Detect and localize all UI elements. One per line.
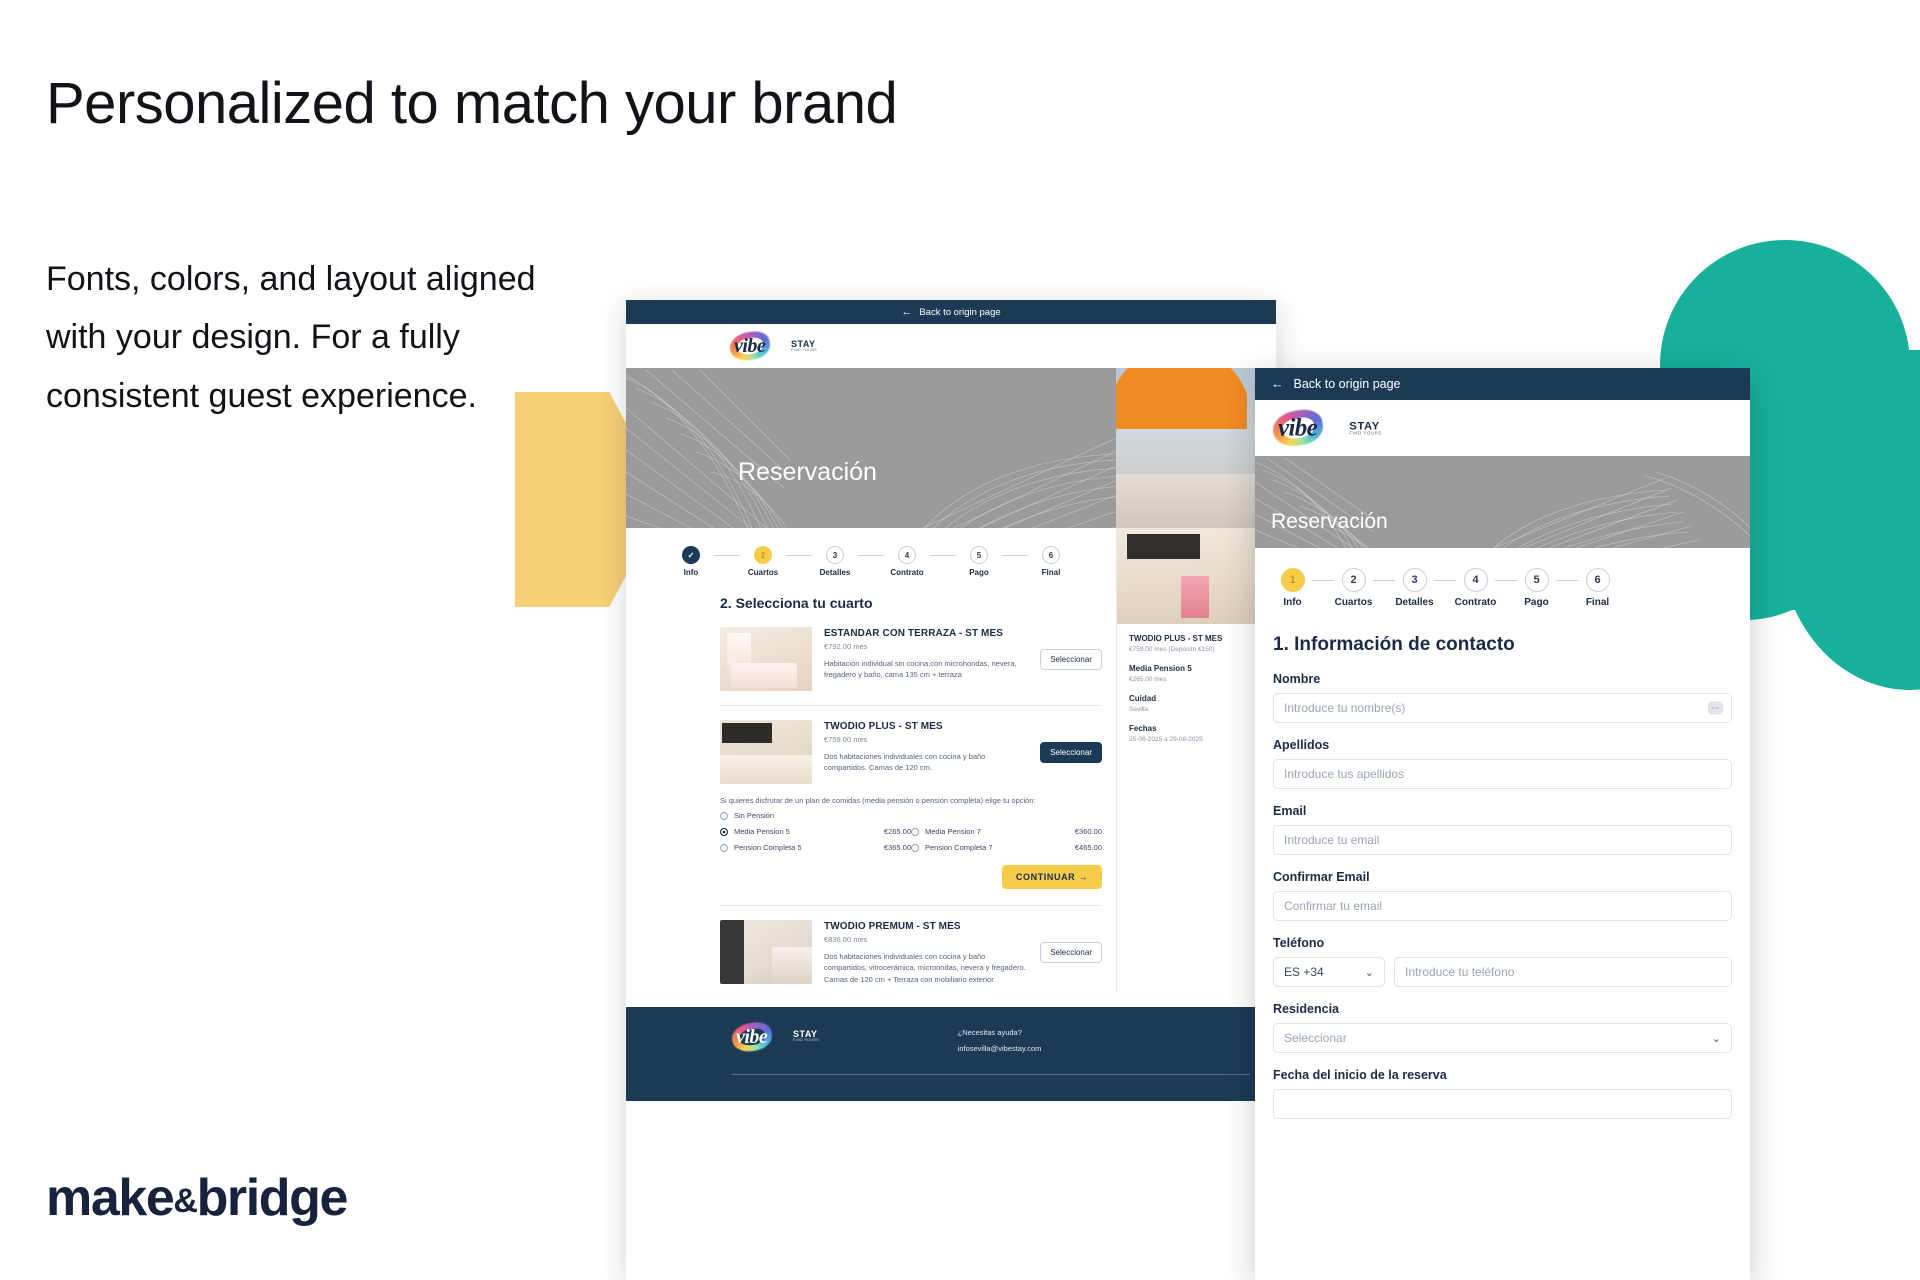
step-cuartos-label: Cuartos	[748, 568, 778, 577]
desktop-hero-photo	[1116, 368, 1276, 528]
room-price: €792.00 mes	[824, 642, 1028, 651]
meal-label: Pension Completa 5	[734, 843, 802, 852]
tablet-step-cuartos[interactable]: 2 Cuartos	[1334, 568, 1373, 608]
step-pago[interactable]: 5 Pago	[956, 546, 1002, 577]
room-price: €759.00 mes	[824, 735, 1028, 744]
desktop-logo-band: vibe STAY FIND YOURS	[626, 324, 1276, 368]
tablet-back-bar[interactable]: ← Back to origin page	[1255, 368, 1750, 400]
step-connector	[1495, 580, 1517, 581]
tablet-hero: Reservación	[1255, 456, 1750, 548]
footer-help-title: ¿Necesitas ayuda?	[958, 1025, 1042, 1041]
summary-meal-price: €265.00 mes	[1129, 676, 1266, 683]
page-title: Personalized to match your brand	[46, 72, 897, 137]
step-cuartos[interactable]: 2 Cuartos	[740, 546, 786, 577]
confirm-email-field[interactable]: Confirmar tu email	[1273, 891, 1732, 921]
desktop-main-column: ✓ Info 2 Cuartos 3 Detalles 4 Contrato	[626, 528, 1116, 993]
room-description: Habitación individual sin cocina,con mic…	[824, 658, 1028, 681]
summary-meal-name: Media Pension 5	[1129, 664, 1266, 673]
radio-icon[interactable]	[720, 812, 728, 820]
step-connector	[1312, 580, 1334, 581]
step-contrato[interactable]: 4 Contrato	[884, 546, 930, 577]
desktop-body: ✓ Info 2 Cuartos 3 Detalles 4 Contrato	[626, 528, 1276, 993]
tablet-step-detalles-label: Detalles	[1395, 597, 1433, 608]
desktop-booking-window: ← Back to origin page vibe STAY FIND YOU…	[626, 300, 1276, 1280]
vibe-stay-lockup: STAY FIND YOURS	[1349, 420, 1382, 436]
booking-summary: TWODIO PLUS - ST MES €759.00 mes (Depósi…	[1117, 624, 1276, 753]
room-info: ESTANDAR CON TERRAZA - ST MES €792.00 me…	[824, 627, 1028, 681]
meal-option-media-pension-7[interactable]: Media Pension 7 €360.00	[911, 827, 1102, 836]
tablet-step-info-dot: 1	[1281, 568, 1305, 592]
meal-option-sin-pension[interactable]: Sin Pensión	[720, 811, 916, 820]
step-detalles-label: Detalles	[820, 568, 851, 577]
summary-room-price: €759.00 mes (Depósito €150)	[1129, 646, 1266, 653]
tablet-step-pago[interactable]: 5 Pago	[1517, 568, 1556, 608]
apellidos-placeholder: Introduce tus apellidos	[1284, 767, 1404, 781]
step-cuartos-dot: 2	[754, 546, 772, 564]
room-name: TWODIO PLUS - ST MES	[824, 721, 1028, 732]
meal-label: Media Pension 5	[734, 827, 790, 836]
telefono-placeholder: Introduce tu teléfono	[1405, 965, 1514, 979]
vibe-stay-logo[interactable]: vibe STAY FIND YOURS	[1273, 411, 1382, 446]
vibe-stay-lockup: STAY FIND YOURS	[791, 340, 817, 353]
page-subcopy: Fonts, colors, and layout aligned with y…	[46, 250, 586, 425]
room-card[interactable]: ESTANDAR CON TERRAZA - ST MES €792.00 me…	[626, 619, 1116, 699]
brand-word-bridge: bridge	[197, 1169, 348, 1227]
summary-dates-value: 25-06-2025 a 29-08-2025	[1129, 736, 1266, 743]
section-title: 2. Selecciona tu cuarto	[720, 595, 1116, 611]
tablet-step-pago-dot: 5	[1525, 568, 1549, 592]
tablet-step-detalles-dot: 3	[1403, 568, 1427, 592]
confirm-email-label: Confirmar Email	[1273, 870, 1732, 884]
email-label: Email	[1273, 804, 1732, 818]
meal-option-pension-completa-7[interactable]: Pension Completa 7 €465.00	[911, 843, 1102, 852]
room-thumbnail	[720, 720, 812, 784]
meal-row: Sin Pensión	[720, 811, 1102, 820]
apellidos-field[interactable]: Introduce tus apellidos	[1273, 759, 1732, 789]
desktop-back-bar[interactable]: ← Back to origin page	[626, 300, 1276, 324]
room-thumbnail	[720, 920, 812, 984]
arrow-left-icon: ←	[901, 307, 912, 318]
summary-city-value: Sevilla	[1129, 706, 1266, 713]
meal-option-media-pension-5[interactable]: Media Pension 5 €265.00	[720, 827, 911, 836]
room-description: Dos habitaciones individuales con cocina…	[824, 951, 1028, 985]
meal-price: €465.00	[1075, 843, 1102, 852]
vibe-wordmark: vibe	[736, 1026, 767, 1049]
tablet-step-cuartos-label: Cuartos	[1335, 597, 1373, 608]
footer-help-email[interactable]: infosevilla@vibestay.com	[958, 1041, 1042, 1057]
hero-wave-pattern	[626, 368, 1116, 528]
nombre-field[interactable]: Introduce tu nombre(s) ⋯	[1273, 693, 1732, 723]
telefono-label: Teléfono	[1273, 936, 1732, 950]
desktop-footer: vibe STAY FIND YOURS ¿Necesitas ayuda? i…	[626, 1007, 1276, 1102]
tablet-step-final[interactable]: 6 Final	[1578, 568, 1617, 608]
arrow-left-icon: ←	[1271, 377, 1284, 391]
footer-vibe-logo[interactable]: vibe STAY FIND YOURS	[732, 1023, 819, 1051]
divider	[720, 705, 1102, 706]
step-connector	[1434, 580, 1456, 581]
room-name: ESTANDAR CON TERRAZA - ST MES	[824, 628, 1028, 639]
room-card[interactable]: TWODIO PLUS - ST MES €759.00 mes Dos hab…	[626, 712, 1116, 792]
desktop-hero: Reservación	[626, 368, 1116, 528]
step-detalles[interactable]: 3 Detalles	[812, 546, 858, 577]
tablet-step-final-dot: 6	[1586, 568, 1610, 592]
select-room-button[interactable]: Seleccionar	[1040, 742, 1102, 763]
tablet-step-info[interactable]: 1 Info	[1273, 568, 1312, 608]
step-contrato-dot: 4	[898, 546, 916, 564]
tablet-step-contrato-label: Contrato	[1455, 597, 1497, 608]
meal-price: €360.00	[1075, 827, 1102, 836]
tablet-step-contrato-dot: 4	[1464, 568, 1488, 592]
footer-divider	[732, 1074, 1250, 1075]
step-final-label: Final	[1042, 568, 1061, 577]
desktop-hero-title: Reservación	[738, 458, 877, 487]
apellidos-label: Apellidos	[1273, 738, 1732, 752]
divider	[720, 905, 1102, 906]
meal-label: Media Pension 7	[925, 827, 981, 836]
desktop-hero-row: Reservación	[626, 368, 1276, 528]
meal-price: €265.00	[884, 827, 911, 836]
telefono-country-value: ES +34	[1284, 965, 1324, 979]
confirm-email-placeholder: Confirmar tu email	[1284, 899, 1382, 913]
meal-row: Media Pension 5 €265.00 Media Pension 7 …	[720, 827, 1102, 836]
tablet-stepper: 1 Info 2 Cuartos 3 Detalles 4 Contrato 5…	[1273, 568, 1732, 608]
room-price: €836.00 mes	[824, 935, 1028, 944]
step-connector	[1373, 580, 1395, 581]
tablet-step-pago-label: Pago	[1524, 597, 1548, 608]
meal-label: Pension Completa 7	[925, 843, 993, 852]
chevron-down-icon: ⌄	[1712, 1032, 1721, 1045]
residencia-select[interactable]: Seleccionar ⌄	[1273, 1023, 1732, 1053]
tablet-form-title: 1. Información de contacto	[1273, 634, 1732, 656]
tablet-step-final-label: Final	[1586, 597, 1609, 608]
select-room-button[interactable]: Seleccionar	[1040, 649, 1102, 670]
select-room-button[interactable]: Seleccionar	[1040, 942, 1102, 963]
step-final-dot: 6	[1042, 546, 1060, 564]
brand-ampersand: &	[173, 1182, 196, 1220]
step-info-dot: ✓	[682, 546, 700, 564]
meal-plan-note: Si quieres disfrutar de un plan de comid…	[626, 792, 1116, 811]
summary-photo	[1117, 528, 1276, 624]
step-connector	[714, 555, 740, 556]
radio-icon[interactable]	[911, 844, 919, 852]
footer-help: ¿Necesitas ayuda? infosevilla@vibestay.c…	[958, 1023, 1042, 1057]
step-pago-label: Pago	[969, 568, 989, 577]
radio-icon[interactable]	[720, 844, 728, 852]
step-connector	[1002, 555, 1028, 556]
summary-room-name: TWODIO PLUS - ST MES	[1129, 634, 1266, 643]
step-info[interactable]: ✓ Info	[668, 546, 714, 577]
meal-price: €365.00	[884, 843, 911, 852]
hero-wave-pattern	[1255, 456, 1750, 548]
tablet-booking-window: ← Back to origin page vibe STAY FIND YOU…	[1255, 368, 1750, 1280]
step-contrato-label: Contrato	[890, 568, 923, 577]
telefono-field[interactable]: Introduce tu teléfono	[1394, 957, 1732, 987]
room-info: TWODIO PREMUM - ST MES €836.00 mes Dos h…	[824, 920, 1028, 985]
desktop-summary-column: TWODIO PLUS - ST MES €759.00 mes (Depósi…	[1116, 528, 1276, 993]
continue-button[interactable]: CONTINUAR →	[1002, 865, 1102, 889]
email-placeholder: Introduce tu email	[1284, 833, 1379, 847]
meal-option-pension-completa-5[interactable]: Pension Completa 5 €365.00	[720, 843, 911, 852]
fecha-inicio-field[interactable]	[1273, 1089, 1732, 1119]
telefono-row: ES +34 ⌄ Introduce tu teléfono	[1273, 957, 1732, 987]
vibe-wordmark: vibe	[734, 335, 765, 358]
chevron-down-icon: ⌄	[1365, 966, 1374, 979]
room-info: TWODIO PLUS - ST MES €759.00 mes Dos hab…	[824, 720, 1028, 774]
keyboard-icon[interactable]: ⋯	[1708, 702, 1723, 715]
nombre-placeholder: Introduce tu nombre(s)	[1284, 701, 1405, 715]
nombre-label: Nombre	[1273, 672, 1732, 686]
make-and-bridge-logo: make&bridge	[46, 1168, 347, 1228]
step-final[interactable]: 6 Final	[1028, 546, 1074, 577]
summary-dates-label: Fechas	[1129, 724, 1266, 733]
tablet-step-contrato[interactable]: 4 Contrato	[1456, 568, 1495, 608]
step-connector	[930, 555, 956, 556]
room-thumbnail	[720, 627, 812, 691]
telefono-country-select[interactable]: ES +34 ⌄	[1273, 957, 1385, 987]
tablet-form-body: 1 Info 2 Cuartos 3 Detalles 4 Contrato 5…	[1255, 548, 1750, 1119]
step-connector	[858, 555, 884, 556]
desktop-stepper: ✓ Info 2 Cuartos 3 Detalles 4 Contrato	[626, 528, 1116, 583]
fecha-inicio-label: Fecha del inicio de la reserva	[1273, 1068, 1732, 1082]
step-detalles-dot: 3	[826, 546, 844, 564]
tablet-logo-band: vibe STAY FIND YOURS	[1255, 400, 1750, 456]
meal-row: Pension Completa 5 €365.00 Pension Compl…	[720, 843, 1102, 852]
radio-icon[interactable]	[911, 828, 919, 836]
tablet-step-cuartos-dot: 2	[1342, 568, 1366, 592]
meal-plan-options: Sin Pensión Media Pension 5 €265.00 Medi…	[626, 811, 1116, 863]
brand-word-make: make	[46, 1169, 173, 1227]
vibe-tagline: FIND YOURS	[1349, 431, 1382, 435]
vibe-tagline: FIND YOURS	[791, 349, 817, 353]
step-connector	[786, 555, 812, 556]
radio-icon[interactable]	[720, 828, 728, 836]
tablet-step-detalles[interactable]: 3 Detalles	[1395, 568, 1434, 608]
step-pago-dot: 5	[970, 546, 988, 564]
email-field[interactable]: Introduce tu email	[1273, 825, 1732, 855]
room-description: Dos habitaciones individuales con cocina…	[824, 751, 1028, 774]
vibe-stay-lockup: STAY FIND YOURS	[793, 1030, 819, 1043]
step-connector	[1556, 580, 1578, 581]
residencia-value: Seleccionar	[1284, 1031, 1347, 1045]
summary-city-label: Cuidad	[1129, 694, 1266, 703]
vibe-tagline: FIND YOURS	[793, 1039, 819, 1043]
vibe-stay-logo[interactable]: vibe STAY FIND YOURS	[730, 332, 817, 360]
desktop-back-label: Back to origin page	[919, 307, 1000, 318]
room-card[interactable]: TWODIO PREMUM - ST MES €836.00 mes Dos h…	[626, 912, 1116, 993]
tablet-step-info-label: Info	[1283, 597, 1301, 608]
tablet-hero-title: Reservación	[1271, 510, 1388, 534]
room-name: TWODIO PREMUM - ST MES	[824, 921, 1028, 932]
residencia-label: Residencia	[1273, 1002, 1732, 1016]
vibe-wordmark: vibe	[1278, 414, 1317, 443]
meal-label: Sin Pensión	[734, 811, 774, 820]
tablet-back-label: Back to origin page	[1294, 377, 1401, 391]
step-info-label: Info	[684, 568, 699, 577]
